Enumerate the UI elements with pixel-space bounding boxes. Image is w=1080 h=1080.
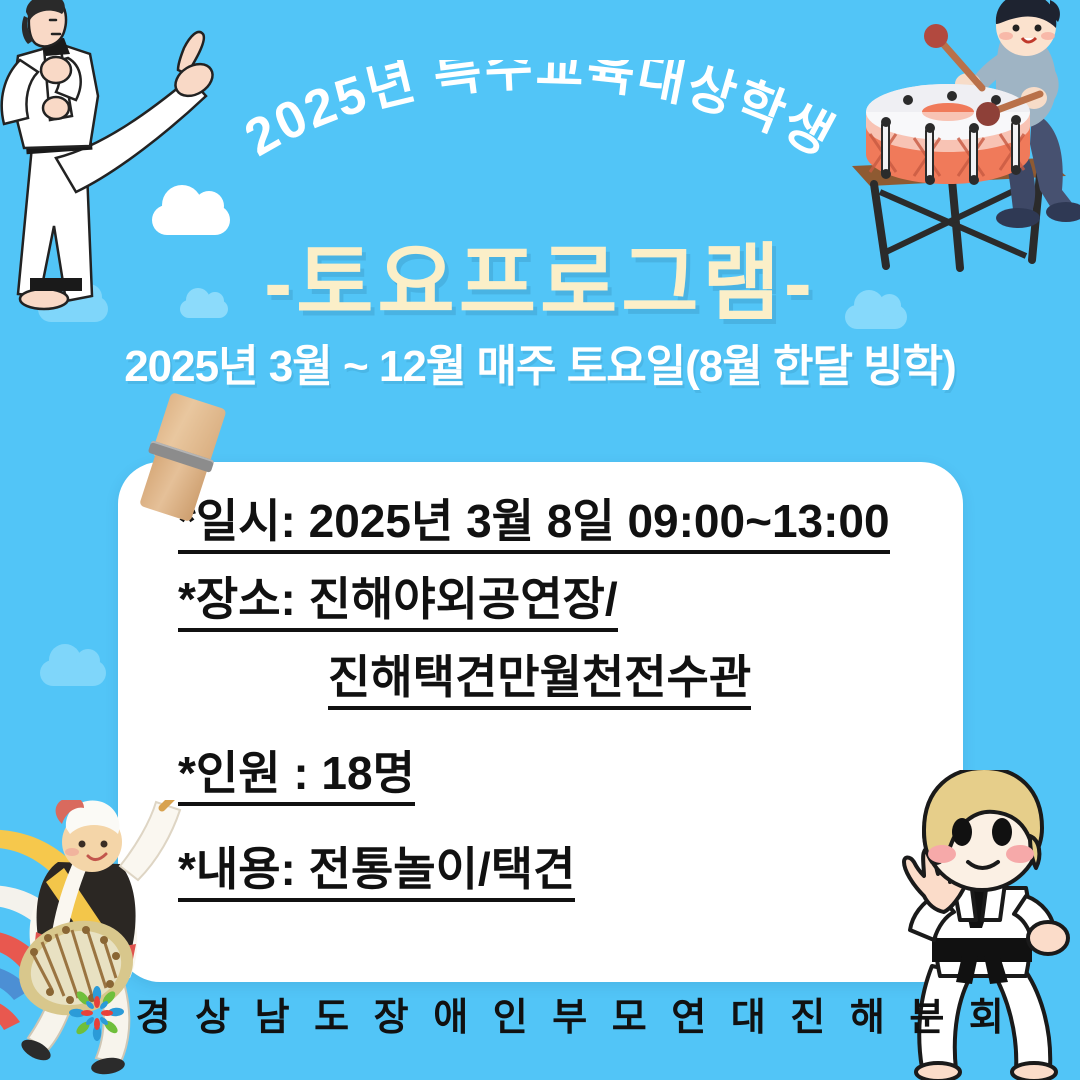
info-line-datetime: *일시: 2025년 3월 8일 09:00~13:00 (178, 498, 933, 554)
organization-name: 경 상 남 도 장 애 인 부 모 연 대 진 해 분 회 (136, 986, 1011, 1041)
arch-title-text: 2025년 특수교육대상학생 (236, 60, 844, 168)
info-card-content: *일시: 2025년 3월 8일 09:00~13:00 *장소: 진해야외공연… (178, 498, 933, 908)
info-card: *일시: 2025년 3월 8일 09:00~13:00 *장소: 진해야외공연… (118, 462, 963, 982)
info-line-place-text: *장소: 진해야외공연장/ (178, 576, 618, 632)
spacer (178, 716, 933, 750)
info-line-content: *내용: 전통놀이/택견 (178, 846, 933, 902)
flower-burst-logo-icon (69, 985, 125, 1041)
poster-subtitle: 2025년 3월 ~ 12월 매주 토요일(8월 한달 빙학) (0, 330, 1080, 394)
info-line-place-second-text: 진해택견만월천전수관 (328, 654, 751, 710)
cloud-icon (40, 660, 106, 686)
footer: 경 상 남 도 장 애 인 부 모 연 대 진 해 분 회 (0, 985, 1080, 1041)
info-line-datetime-text: *일시: 2025년 3월 8일 09:00~13:00 (178, 498, 890, 554)
info-line-capacity-text: *인원 : 18명 (178, 750, 415, 806)
info-line-capacity: *인원 : 18명 (178, 750, 933, 806)
poster-canvas: 2025년 특수교육대상학생 -토요프로그램- 2025년 3월 ~ 12월 매… (0, 0, 1080, 1080)
info-line-content-text: *내용: 전통놀이/택견 (178, 846, 575, 902)
info-line-place-second: 진해택견만월천전수관 (178, 654, 933, 710)
spacer (178, 812, 933, 846)
info-line-place: *장소: 진해야외공연장/ (178, 576, 933, 632)
main-title: -토요프로그램- (0, 216, 1080, 337)
svg-text:2025년 특수교육대상학생: 2025년 특수교육대상학생 (236, 60, 844, 168)
